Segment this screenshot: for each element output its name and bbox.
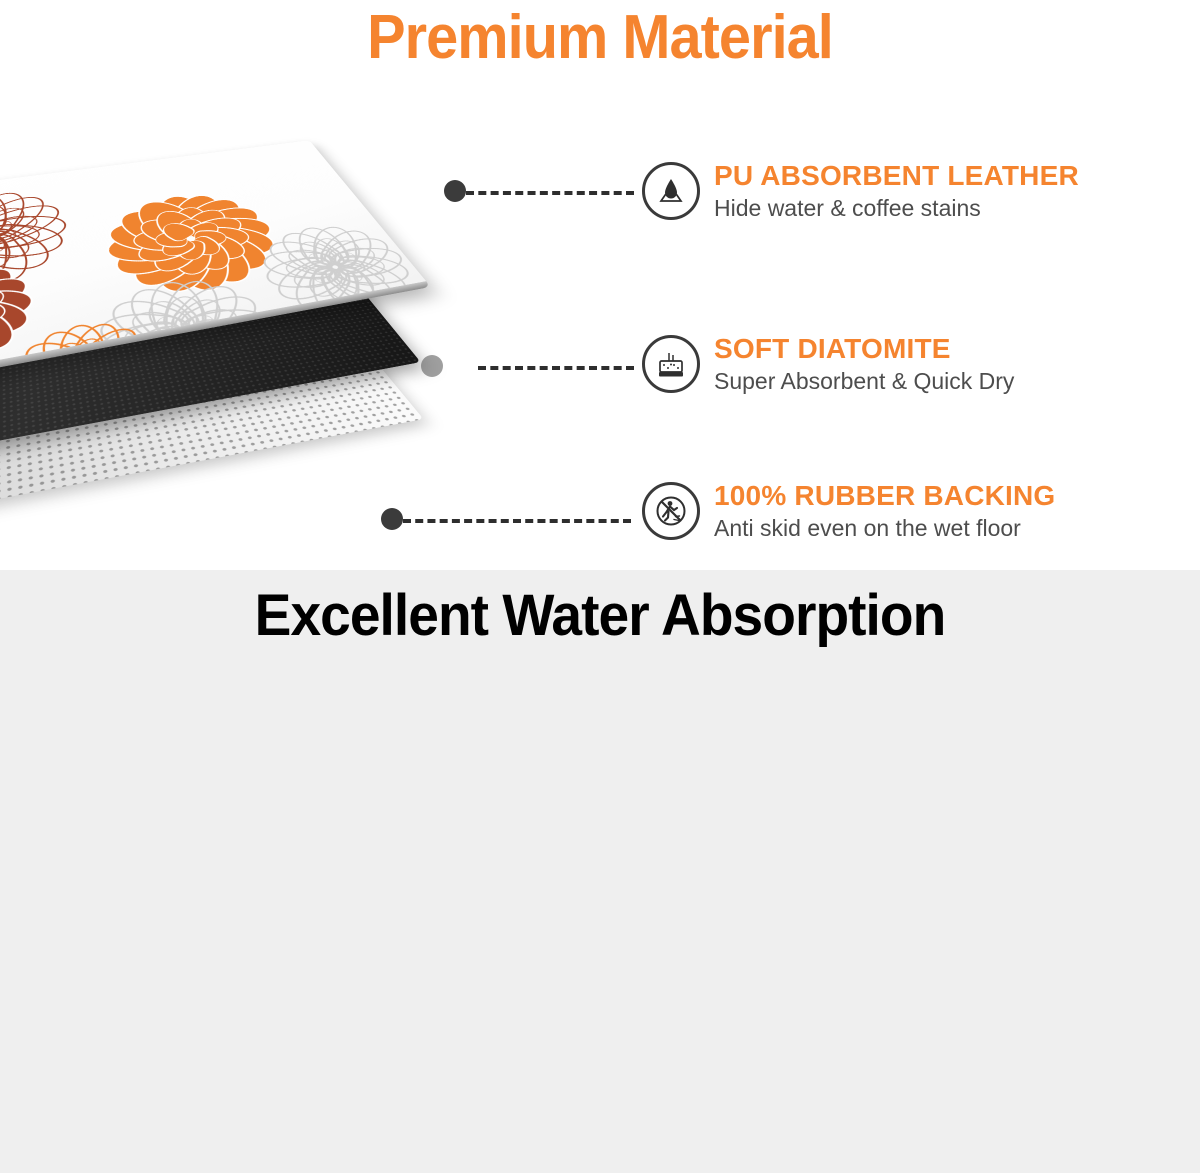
feature-heading: PU ABSORBENT LEATHER (714, 160, 1079, 191)
product-layers-image (0, 78, 600, 568)
premium-material-section: Premium Material PU ABSORBENT LEATHER Hi… (0, 0, 1200, 570)
leader-dot-2 (421, 355, 443, 377)
premium-material-title: Premium Material (42, 2, 1158, 73)
leader-dot-1 (444, 180, 466, 202)
feature-heading: 100% RUBBER BACKING (714, 480, 1055, 511)
feature-subtext: Anti skid even on the wet floor (714, 515, 1055, 543)
absorbent-pad-icon (642, 335, 700, 393)
water-drop-on-mat-icon (642, 162, 700, 220)
feature-subtext: Hide water & coffee stains (714, 195, 1079, 223)
feature-pu-absorbent-leather[interactable]: PU ABSORBENT LEATHER Hide water & coffee… (642, 160, 1079, 223)
leader-line-2 (478, 366, 634, 370)
feature-heading: SOFT DIATOMITE (714, 333, 1014, 364)
water-absorption-section: Excellent Water Absorption Water Coffee (0, 570, 1200, 1173)
leader-dot-3 (381, 508, 403, 530)
leader-line-3 (403, 519, 631, 523)
water-absorption-title: Excellent Water Absorption (30, 582, 1170, 649)
feature-soft-diatomite[interactable]: SOFT DIATOMITE Super Absorbent & Quick D… (642, 333, 1014, 396)
feature-subtext: Super Absorbent & Quick Dry (714, 368, 1014, 396)
feature-rubber-backing[interactable]: 100% RUBBER BACKING Anti skid even on th… (642, 480, 1055, 543)
no-slip-person-icon (642, 482, 700, 540)
leader-line-1 (466, 191, 634, 195)
